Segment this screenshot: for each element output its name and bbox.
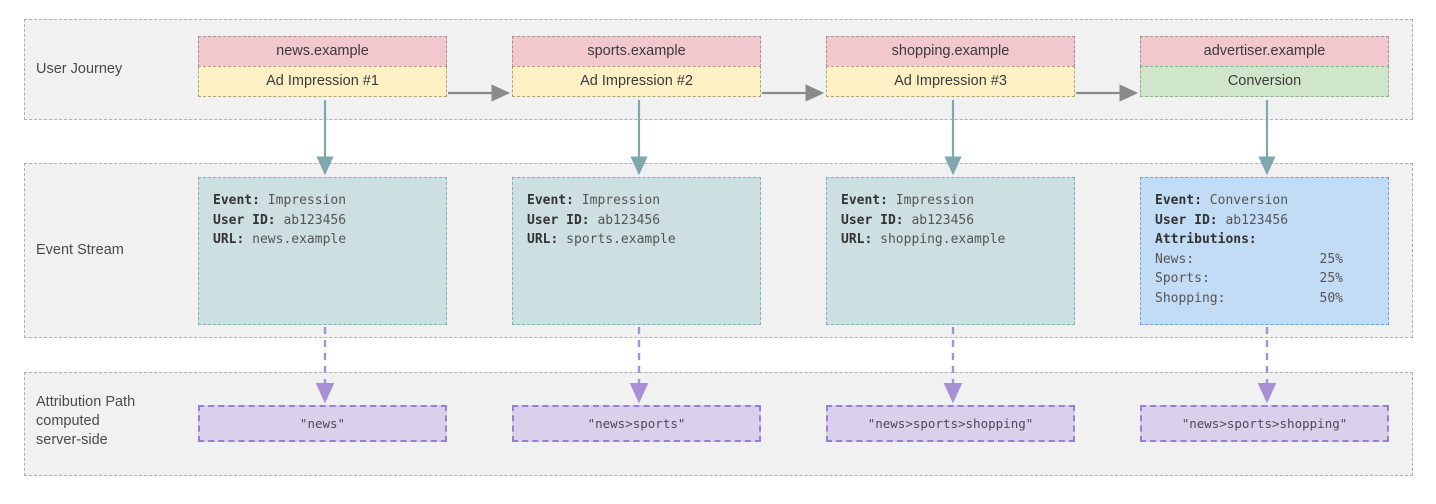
event-line-event-3: Event: Impression — [841, 191, 1074, 211]
journey-card-1[interactable]: news.example Ad Impression #1 — [198, 36, 447, 97]
event-value-userid-2: ab123456 — [597, 213, 660, 228]
journey-action-3: Ad Impression #3 — [826, 66, 1075, 97]
event-key-userid-3: User ID: — [841, 213, 904, 228]
event-line-url-2: URL: sports.example — [527, 230, 760, 250]
event-value-url-1: news.example — [252, 232, 346, 247]
event-line-event-2: Event: Impression — [527, 191, 760, 211]
journey-card-3[interactable]: shopping.example Ad Impression #3 — [826, 36, 1075, 97]
journey-domain-3: shopping.example — [826, 36, 1075, 67]
attribution-row-shopping: Shopping:50% — [1155, 289, 1373, 309]
attribution-row-news: News:25% — [1155, 250, 1373, 270]
attribution-value-news: 25% — [1291, 250, 1343, 270]
event-line-event-4: Event: Conversion — [1155, 191, 1388, 211]
attribution-path-2[interactable]: "news>sports" — [512, 405, 761, 442]
row-label-user-journey: User Journey — [36, 60, 122, 79]
event-line-userid-2: User ID: ab123456 — [527, 211, 760, 231]
event-key-userid-2: User ID: — [527, 213, 590, 228]
event-key-event-3: Event: — [841, 193, 888, 208]
event-key-userid-1: User ID: — [213, 213, 276, 228]
journey-card-4[interactable]: advertiser.example Conversion — [1140, 36, 1389, 97]
event-value-userid-1: ab123456 — [283, 213, 346, 228]
event-line-userid-4: User ID: ab123456 — [1155, 211, 1388, 231]
event-key-url-2: URL: — [527, 232, 558, 247]
event-line-attributions-4: Attributions: — [1155, 230, 1388, 250]
event-value-url-2: sports.example — [566, 232, 676, 247]
journey-domain-4: advertiser.example — [1140, 36, 1389, 67]
attribution-name-shopping: Shopping: — [1155, 289, 1291, 309]
journey-card-2[interactable]: sports.example Ad Impression #2 — [512, 36, 761, 97]
event-line-userid-1: User ID: ab123456 — [213, 211, 446, 231]
event-key-event-1: Event: — [213, 193, 260, 208]
event-line-url-3: URL: shopping.example — [841, 230, 1074, 250]
attribution-path-3[interactable]: "news>sports>shopping" — [826, 405, 1075, 442]
event-box-3[interactable]: Event: Impression User ID: ab123456 URL:… — [826, 177, 1075, 325]
event-line-url-1: URL: news.example — [213, 230, 446, 250]
event-key-url-1: URL: — [213, 232, 244, 247]
journey-action-2: Ad Impression #2 — [512, 66, 761, 97]
event-line-event-1: Event: Impression — [213, 191, 446, 211]
event-value-url-3: shopping.example — [880, 232, 1005, 247]
event-value-event-4: Conversion — [1210, 193, 1288, 208]
row-label-attribution-path: Attribution Path computed server-side — [36, 393, 135, 450]
event-value-event-3: Impression — [896, 193, 974, 208]
event-key-event-2: Event: — [527, 193, 574, 208]
attribution-value-shopping: 50% — [1291, 289, 1343, 309]
event-value-event-2: Impression — [582, 193, 660, 208]
journey-domain-1: news.example — [198, 36, 447, 67]
event-box-1[interactable]: Event: Impression User ID: ab123456 URL:… — [198, 177, 447, 325]
attribution-row-sports: Sports:25% — [1155, 269, 1373, 289]
journey-action-1: Ad Impression #1 — [198, 66, 447, 97]
event-value-userid-3: ab123456 — [911, 213, 974, 228]
event-key-event-4: Event: — [1155, 193, 1202, 208]
attribution-flow-diagram: User Journey Event Stream Attribution Pa… — [0, 0, 1436, 504]
event-key-userid-4: User ID: — [1155, 213, 1218, 228]
journey-domain-2: sports.example — [512, 36, 761, 67]
event-box-2[interactable]: Event: Impression User ID: ab123456 URL:… — [512, 177, 761, 325]
attribution-name-sports: Sports: — [1155, 269, 1291, 289]
event-key-attributions-4: Attributions: — [1155, 232, 1257, 247]
attribution-name-news: News: — [1155, 250, 1291, 270]
event-line-userid-3: User ID: ab123456 — [841, 211, 1074, 231]
event-key-url-3: URL: — [841, 232, 872, 247]
row-label-event-stream: Event Stream — [36, 241, 124, 260]
event-box-4[interactable]: Event: Conversion User ID: ab123456 Attr… — [1140, 177, 1389, 325]
attribution-path-4[interactable]: "news>sports>shopping" — [1140, 405, 1389, 442]
event-value-userid-4: ab123456 — [1225, 213, 1288, 228]
attribution-path-1[interactable]: "news" — [198, 405, 447, 442]
journey-action-4: Conversion — [1140, 66, 1389, 97]
attribution-value-sports: 25% — [1291, 269, 1343, 289]
event-value-event-1: Impression — [268, 193, 346, 208]
